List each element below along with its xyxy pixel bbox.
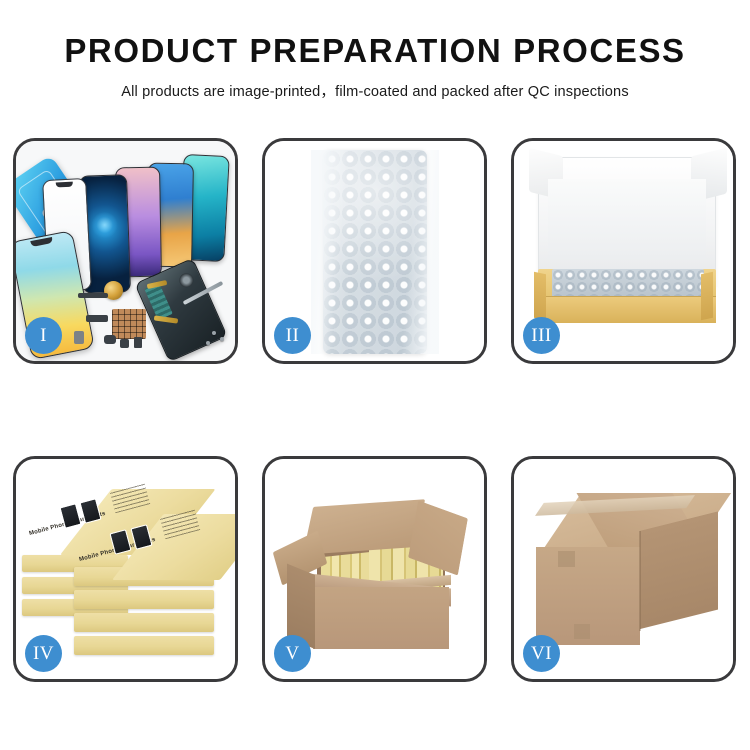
process-step-5: V	[262, 456, 487, 682]
process-step-3: III	[511, 138, 736, 364]
screw-icon	[206, 341, 210, 345]
tape-tab-icon	[574, 624, 590, 639]
screw-mat-icon	[112, 309, 146, 339]
process-step-2: II	[262, 138, 487, 364]
step-badge-6: VI	[523, 635, 560, 672]
connector-part-icon	[104, 335, 116, 344]
kraft-box	[74, 636, 214, 655]
connector-part-icon	[134, 337, 142, 348]
process-step-1: I	[13, 138, 238, 364]
kraft-box	[74, 613, 214, 632]
connector-part-icon	[120, 339, 129, 348]
page-title: PRODUCT PREPARATION PROCESS	[0, 34, 750, 67]
box-interior-icon	[548, 179, 706, 259]
process-step-6: VI	[511, 456, 736, 682]
page-header: PRODUCT PREPARATION PROCESS All products…	[0, 0, 750, 101]
step-badge-3: III	[523, 317, 560, 354]
carton-right-panel-icon	[640, 512, 718, 629]
page-subtitle: All products are image-printed，film-coat…	[0, 80, 750, 101]
box-flap-left-icon	[534, 272, 546, 321]
kraft-box	[74, 590, 214, 609]
box-flap-right-icon	[701, 272, 713, 321]
step-badge-1: I	[25, 317, 62, 354]
screw-icon	[220, 337, 224, 341]
connector-part-icon	[78, 293, 108, 298]
bubble-wrapped-contents-icon	[552, 269, 704, 299]
tape-tab-icon	[558, 551, 575, 567]
carton-edge-icon	[639, 531, 641, 631]
carton-front-panel-icon	[313, 587, 449, 649]
step-badge-2: II	[274, 317, 311, 354]
connector-part-icon	[86, 315, 108, 322]
process-step-4: Mobile Phone Spare Parts Mobile Phone Sp…	[13, 456, 238, 682]
box-front-panel-icon	[538, 296, 716, 323]
step-badge-4: IV	[25, 635, 62, 672]
screw-icon	[212, 331, 216, 335]
process-steps-grid: I II III	[13, 138, 737, 682]
step-badge-5: V	[274, 635, 311, 672]
connector-part-icon	[74, 331, 84, 344]
